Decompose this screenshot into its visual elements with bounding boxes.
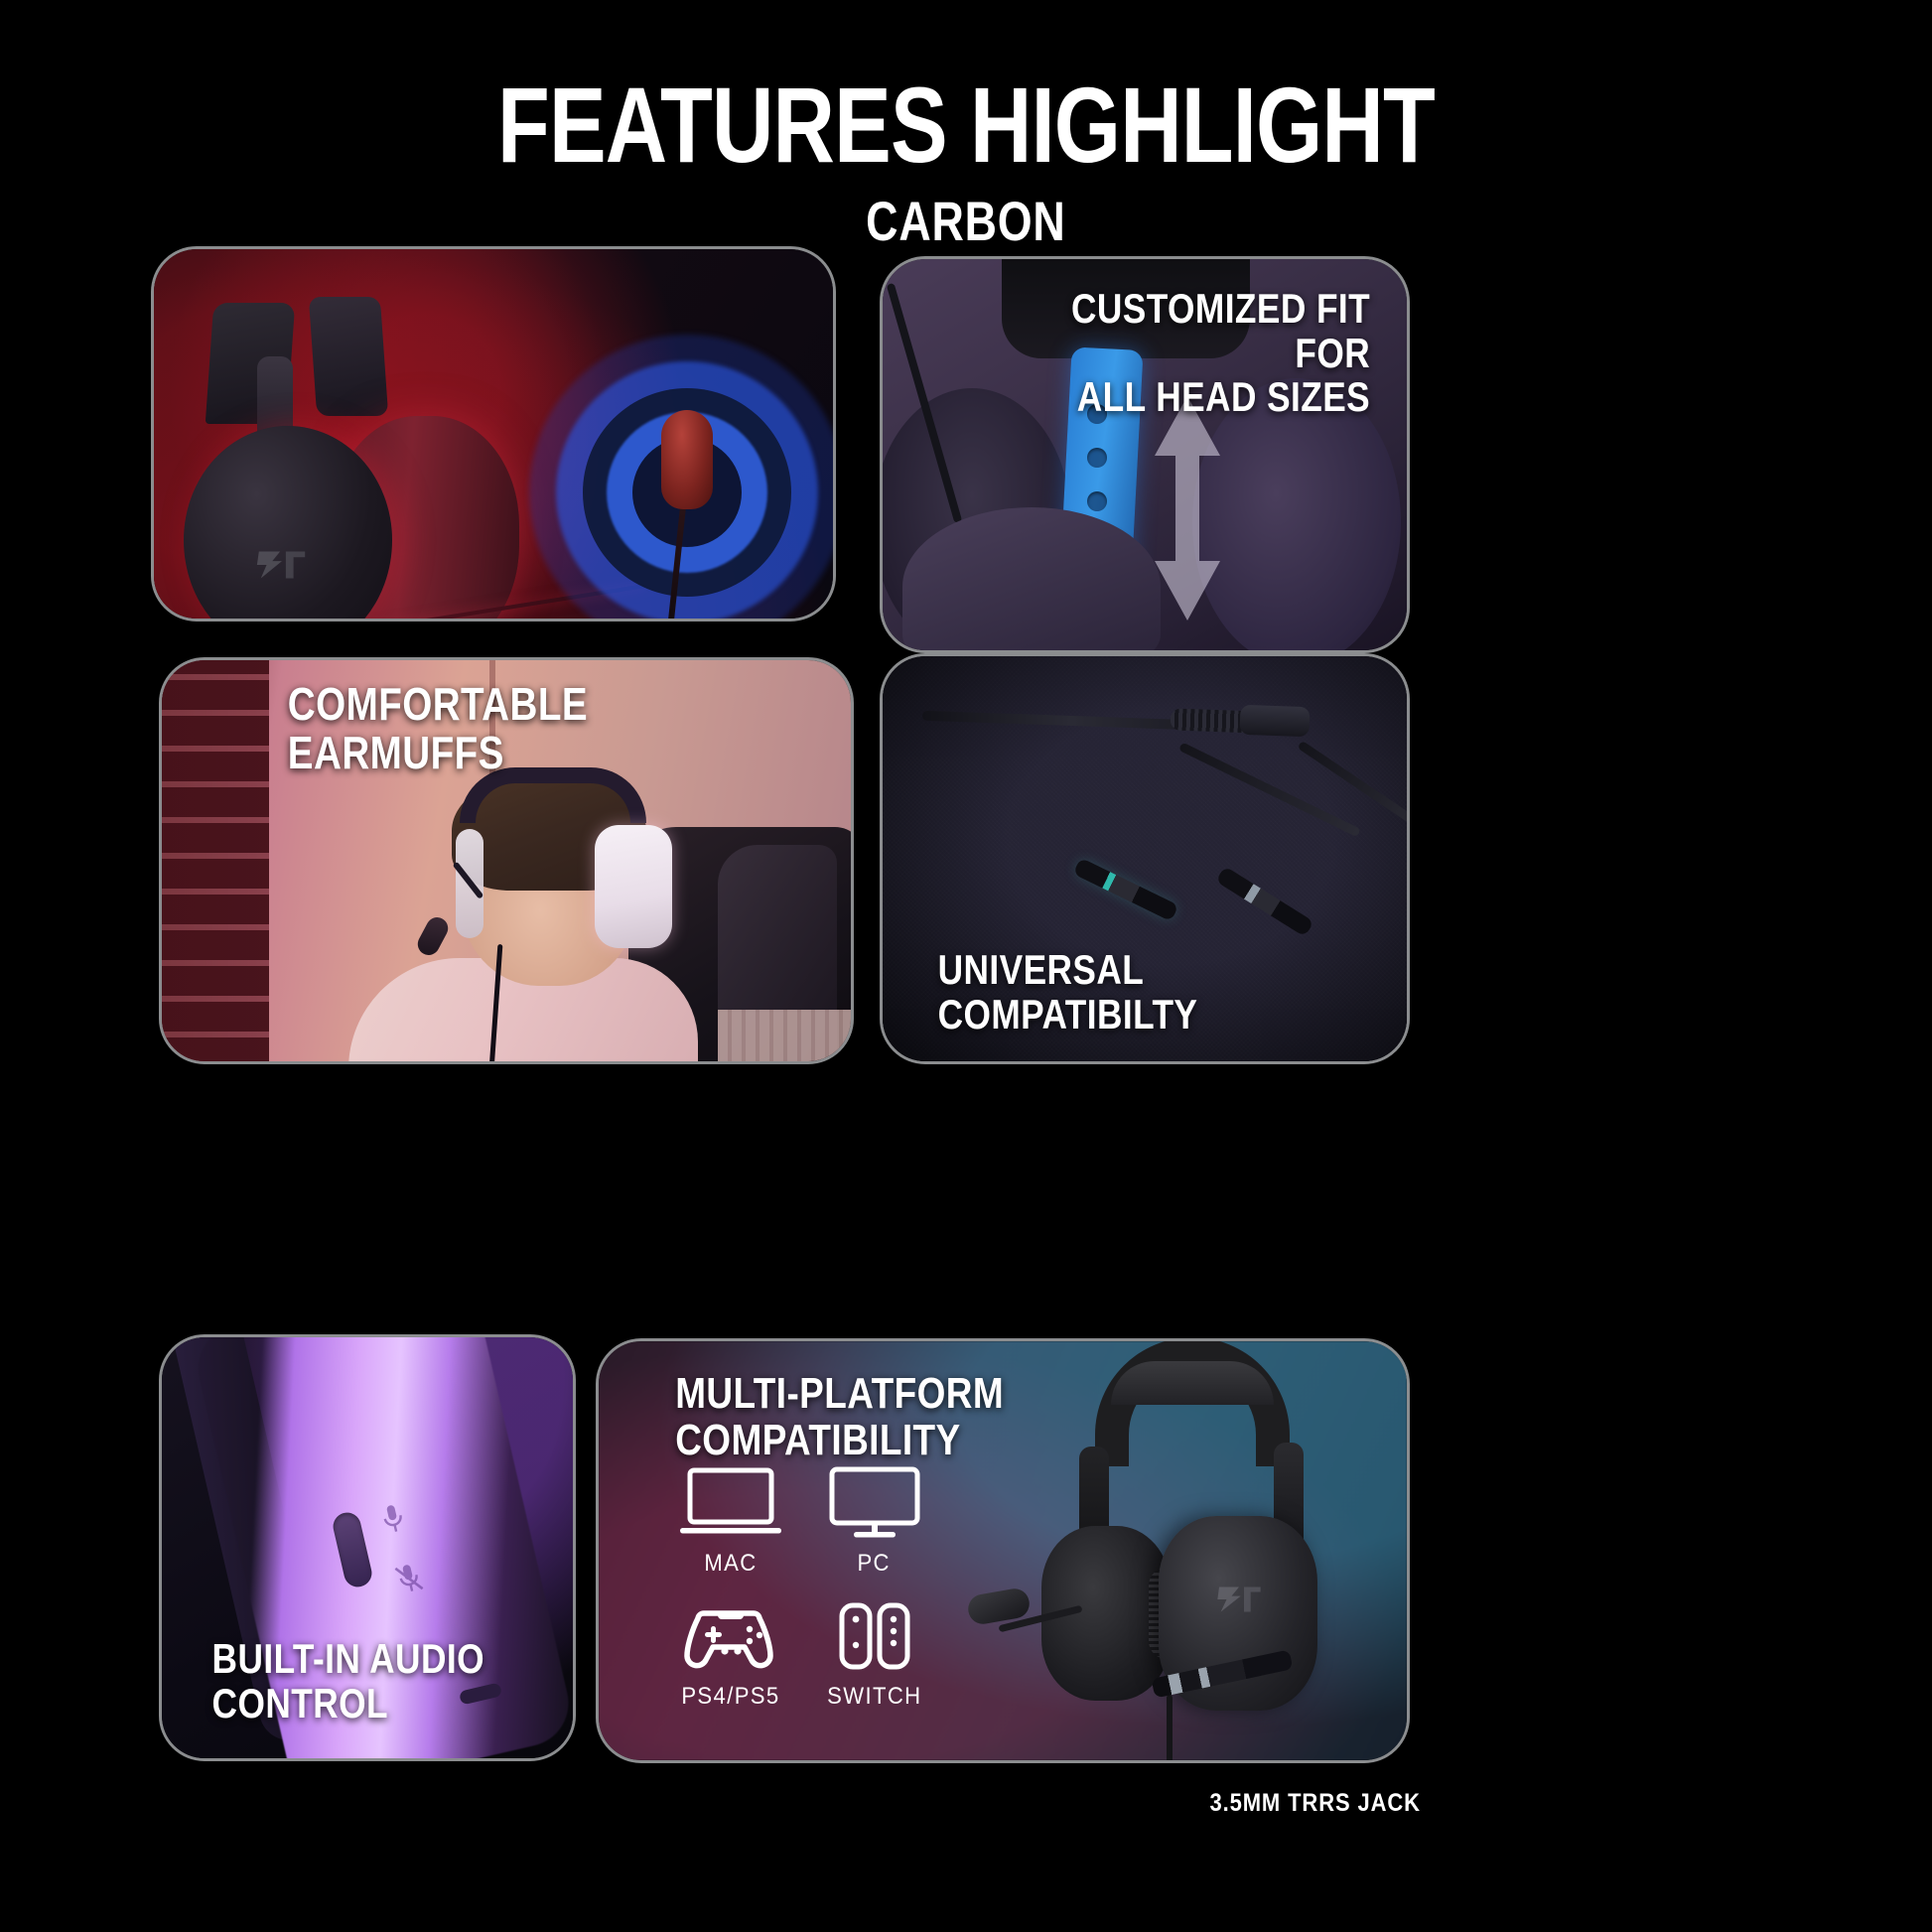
up-down-arrow-icon <box>1143 394 1232 622</box>
strap-hole <box>1087 448 1107 468</box>
monitor-icon <box>822 1466 927 1540</box>
platform-label-mac: MAC <box>704 1550 757 1578</box>
earcup-cushion <box>902 507 1161 653</box>
brick-wall <box>162 660 269 1064</box>
platform-item-pc[interactable]: PC <box>802 1466 946 1578</box>
customized-fit-label: CUSTOMIZED FIT FOR ALL HEAD SIZES <box>1048 287 1370 420</box>
feature-card-customized-fit[interactable]: CUSTOMIZED FIT FOR ALL HEAD SIZES <box>880 256 1410 653</box>
trrs-jack-label: 3.5MM TRRS JACK <box>1209 1789 1420 1818</box>
page-header: FEATURES HIGHLIGHT CARBON <box>0 0 1932 238</box>
switch-console-icon <box>822 1599 927 1673</box>
laptop-icon <box>678 1466 783 1540</box>
built-in-audio-control-label: BUILT-IN AUDIO CONTROL <box>212 1637 531 1725</box>
feature-card-comfortable-earmuffs[interactable]: COMFORTABLE EARMUFFS <box>159 657 854 1064</box>
platform-label-pc: PC <box>858 1550 891 1578</box>
platform-item-mac[interactable]: MAC <box>658 1466 802 1578</box>
platform-item-switch[interactable]: SWITCH <box>802 1599 946 1711</box>
platform-item-playstation[interactable]: PS4/PS5 <box>658 1599 802 1711</box>
cable-splitter <box>1239 705 1310 737</box>
product-cord <box>1167 1695 1173 1763</box>
feature-card-noise-reduction[interactable]: NOISE REDUCTION TECHNOLOGY <box>151 246 836 621</box>
platform-icon-grid: MAC PC PS4/PS5 <box>658 1466 946 1711</box>
microphone-tip-icon <box>661 410 713 509</box>
page-title: FEATURES HIGHLIGHT <box>497 71 1435 179</box>
feature-card-built-in-audio-control[interactable]: BUILT-IN AUDIO CONTROL <box>159 1334 576 1761</box>
gamepad-icon <box>678 1599 783 1673</box>
multi-platform-label: MULTI-PLATFORM COMPATIBILITY <box>675 1371 1126 1463</box>
universal-compatibility-label: UNIVERSAL COMPATIBILTY <box>938 948 1289 1036</box>
radiator <box>718 1010 854 1064</box>
comfortable-earmuffs-label: COMFORTABLE EARMUFFS <box>288 680 755 777</box>
strap-hole <box>1087 491 1107 511</box>
page-subtitle: CARBON <box>866 189 1065 253</box>
platform-label-playstation: PS4/PS5 <box>681 1683 779 1711</box>
fantech-logo-icon <box>253 545 311 585</box>
fantech-logo-icon <box>1214 1582 1264 1617</box>
headset-band-right <box>309 297 388 416</box>
worn-headset-earcup-right <box>595 825 672 948</box>
feature-card-universal-compatibility[interactable]: UNIVERSAL COMPATIBILTY <box>880 653 1410 1064</box>
platform-label-switch: SWITCH <box>827 1683 921 1711</box>
product-headband-pad <box>1111 1361 1274 1405</box>
feature-card-multi-platform[interactable]: MAC PC PS4/PS5 <box>596 1338 1410 1763</box>
